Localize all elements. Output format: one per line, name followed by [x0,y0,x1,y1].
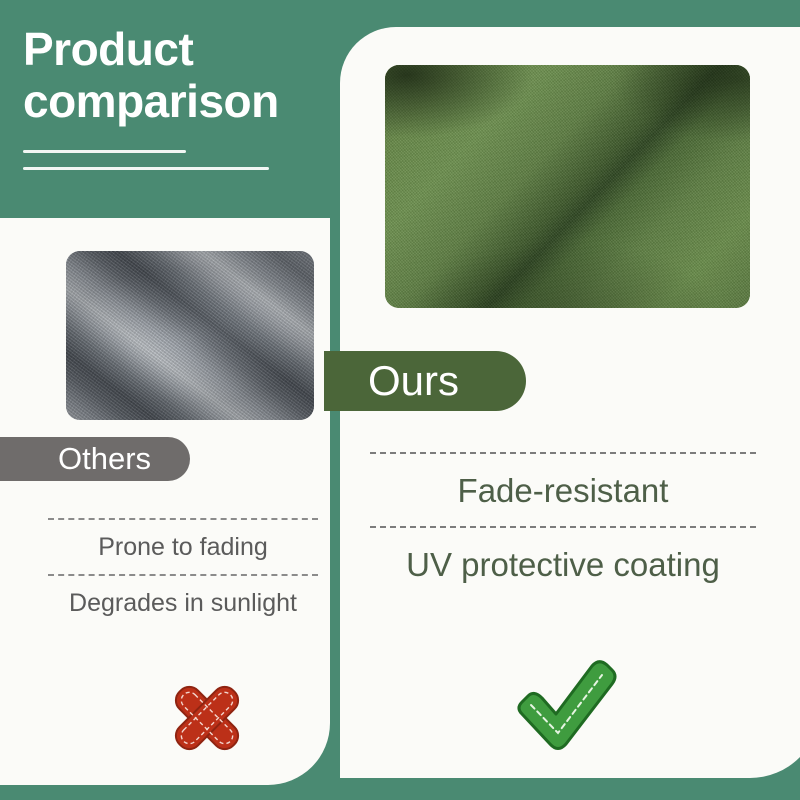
page-title-line-1: Product [23,24,343,76]
product-comparison-infographic: Product comparison Ours Others Fade-resi… [0,0,800,800]
ours-fabric-shading [385,65,750,308]
others-feature-list: Prone to fading Degrades in sunlight [48,518,318,630]
title-rule-long [23,167,269,170]
page-title: Product comparison [23,24,343,170]
ours-badge: Ours [324,351,526,411]
ours-feature-list: Fade-resistant UV protective coating [370,452,756,600]
others-fabric-shading [66,251,314,420]
check-icon [498,640,628,760]
others-fabric-image [66,251,314,420]
others-badge-label: Others [58,441,151,477]
cross-icon [152,668,262,768]
title-rule-short [23,150,186,153]
ours-feature-item: UV protective coating [370,528,756,600]
page-title-line-2: comparison [23,76,343,128]
ours-badge-label: Ours [368,357,459,405]
ours-feature-item: Fade-resistant [370,454,756,526]
ours-fabric-image [385,65,750,308]
others-feature-item: Prone to fading [48,520,318,574]
others-feature-item: Degrades in sunlight [48,576,318,630]
others-badge: Others [0,437,190,481]
